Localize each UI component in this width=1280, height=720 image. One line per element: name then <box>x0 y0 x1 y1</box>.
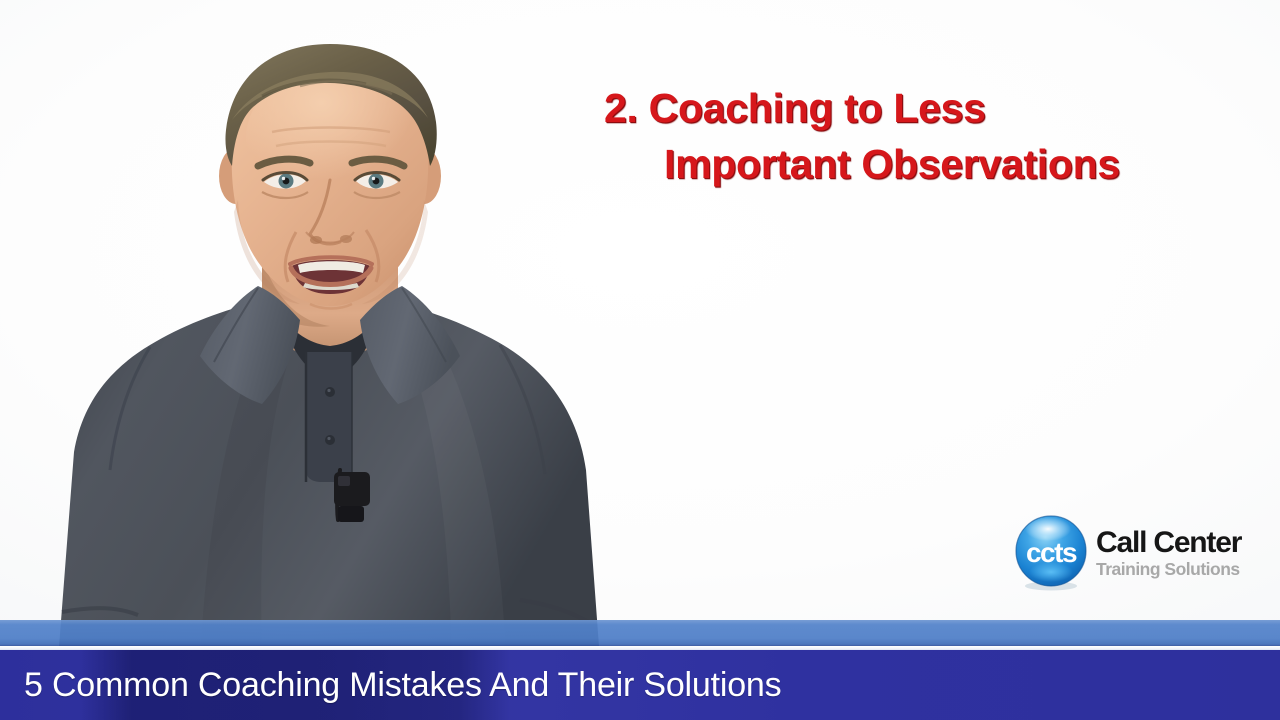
slide-title: 2. Coaching to Less Important Observatio… <box>604 80 1164 192</box>
brand-logo: ccts Call Center Training Solutions <box>1012 512 1262 594</box>
brand-wordmark: Call Center Training Solutions <box>1096 528 1241 579</box>
ccts-orb-icon: ccts <box>1012 514 1090 592</box>
presenter-figure <box>0 0 660 660</box>
banner-headline: 5 Common Coaching Mistakes And Their Sol… <box>24 650 781 720</box>
slide-title-line-1: 2. Coaching to Less <box>604 80 1164 136</box>
slide-title-line-2: Important Observations <box>604 136 1164 192</box>
lower-third-banner: 5 Common Coaching Mistakes And Their Sol… <box>0 612 1280 720</box>
svg-text:ccts: ccts <box>1026 537 1077 568</box>
banner-accent-strip <box>0 620 1280 646</box>
video-frame: 2. Coaching to Less Important Observatio… <box>0 0 1280 720</box>
brand-name: Call Center <box>1096 528 1241 558</box>
brand-tagline: Training Solutions <box>1096 561 1241 579</box>
